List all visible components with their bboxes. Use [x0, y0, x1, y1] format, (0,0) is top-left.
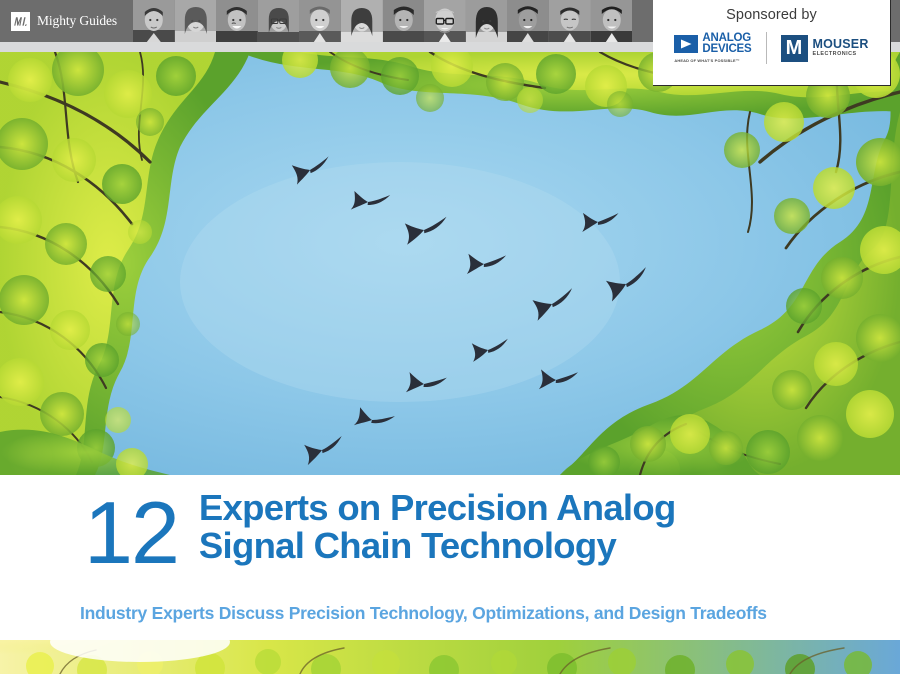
mouser-m-logo: M [781, 35, 808, 62]
expert-headshot-9 [466, 0, 508, 42]
title-line-1: Experts on Precision Analog [199, 489, 676, 527]
mouser-sub-label: ELECTRONICS [813, 52, 869, 57]
brand-name-label: Mighty Guides [37, 13, 117, 29]
sponsor-panel: Sponsored by ANALOG DEVICES [653, 0, 891, 86]
title-line-2: Signal Chain Technology [199, 527, 676, 565]
title-band: 12 Experts on Precision Analog Signal Ch… [0, 475, 900, 640]
page-subtitle: Industry Experts Discuss Precision Techn… [80, 603, 767, 624]
expert-count-number: 12 [84, 491, 178, 575]
title-row: 12 Experts on Precision Analog Signal Ch… [84, 489, 676, 575]
expert-headshot-3 [216, 0, 258, 42]
analog-devices-tagline: AHEAD OF WHAT'S POSSIBLE™ [674, 58, 739, 63]
expert-headshot-8 [424, 0, 466, 42]
analog-devices-logo[interactable]: ANALOG DEVICES AHEAD OF WHAT'S POSSIBLE™ [660, 33, 765, 63]
expert-headshot-11 [549, 0, 591, 42]
expert-headshot-7 [383, 0, 425, 42]
hero-canopy-image [0, 52, 900, 475]
sponsored-by-label: Sponsored by [726, 7, 817, 23]
mouser-electronics-logo[interactable]: M MOUSER ELECTRONICS [767, 35, 883, 62]
expert-headshot-5 [299, 0, 341, 42]
analog-devices-line2: DEVICES [702, 44, 751, 55]
sponsor-logo-row: ANALOG DEVICES AHEAD OF WHAT'S POSSIBLE™… [660, 32, 882, 64]
expert-headshot-12 [591, 0, 633, 42]
expert-headshot-4 [258, 0, 300, 42]
page-title: Experts on Precision Analog Signal Chain… [199, 489, 676, 565]
bottom-canopy-strip [0, 640, 900, 674]
expert-headshot-6 [341, 0, 383, 42]
mighty-guides-brand[interactable]: Mighty Guides [0, 0, 133, 42]
ebook-cover-page: Mighty Guides [0, 0, 900, 674]
mighty-guides-m-logo [11, 12, 30, 31]
analog-devices-triangle-icon [674, 35, 698, 53]
expert-headshot-1 [133, 0, 175, 42]
mouser-mark-letter: M [786, 38, 803, 58]
expert-headshot-10 [507, 0, 549, 42]
expert-headshot-strip [133, 0, 633, 42]
mouser-name-label: MOUSER [813, 38, 869, 51]
expert-headshot-2 [175, 0, 217, 42]
